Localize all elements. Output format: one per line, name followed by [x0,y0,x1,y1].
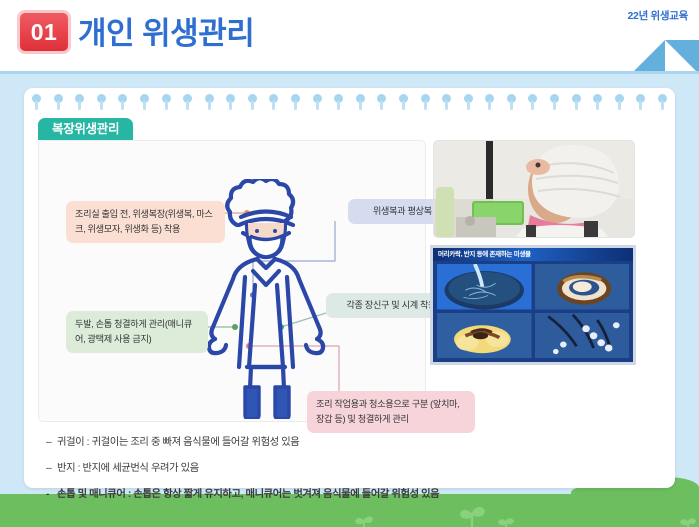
binder-pin [32,94,41,103]
photo-microbe-caption: 머리카락, 반지 등에 존재하는 미생물 [433,248,633,261]
slide-header: 01 개인 위생관리 22년 위생교육 [0,0,699,74]
binder-pin [399,94,408,103]
binder-pin [464,94,473,103]
diagram-panel: 조리실 출입 전, 위생복장(위생복, 마스크, 위생모자, 위생화 등) 착용… [38,140,426,422]
binder-pin [550,94,559,103]
callout-hair-nails: 두발, 손톱 청결하게 관리(매니큐어, 광택제 사용 금지) [66,311,208,353]
bullet-text: 손톱 및 매니큐어 : 손톱은 항상 짧게 유지하고, 매니큐어는 벗겨져 음식… [57,489,439,500]
binder-pin [54,94,63,103]
photo-microbe-grid [437,264,629,358]
microbe-cell-ring [535,264,630,310]
microbe-cell-hairs [535,313,630,359]
binder-pin [118,94,127,103]
binder-pin [291,94,300,103]
header-corner-note: 22년 위생교육 [628,8,689,23]
bullet-dash: - [46,489,57,500]
bullet-text: 반지 : 반지에 세균번식 우려가 있음 [57,463,199,474]
header-triangle-right-decor [665,40,699,74]
callout-apron-gloves: 조리 작업용과 청소용으로 구분 (앞치마, 장갑 등) 및 청결하게 관리 [307,391,475,433]
binder-pin [593,94,602,103]
binder-pin [269,94,278,103]
binder-pin [313,94,322,103]
binder-pin [97,94,106,103]
binder-pin [140,94,149,103]
binder-pin [183,94,192,103]
binder-pin [248,94,257,103]
binder-pin [528,94,537,103]
binder-pin [442,94,451,103]
binder-pin [75,94,84,103]
bullet-text: 귀걸이 : 귀걸이는 조리 중 빠져 음식물에 들어갈 위험성 있음 [57,437,299,448]
binder-pin [615,94,624,103]
photo-microbe-panel: 머리카락, 반지 등에 존재하는 미생물 [430,245,636,365]
binder-pin [356,94,365,103]
bullet-item: -손톱 및 매니큐어 : 손톱은 항상 짧게 유지하고, 매니큐어는 벗겨져 음… [46,485,656,500]
binder-pin [636,94,645,103]
photo-worker-with-cap [433,140,635,238]
microbe-cell-hair-water [437,264,532,310]
section-tab: 복장위생관리 [38,118,133,140]
microbe-cell-colony-yellow [437,313,532,359]
binder-pin [421,94,430,103]
callout-uniform-wear: 조리실 출입 전, 위생복장(위생복, 마스크, 위생모자, 위생화 등) 착용 [66,201,225,243]
binder-pin [658,94,667,103]
photo-worker-illustration [434,141,634,237]
binder-pin [485,94,494,103]
bullet-item: –반지 : 반지에 세균번식 우려가 있음 [46,459,656,474]
binder-pins-decor [32,94,667,114]
binder-pin [572,94,581,103]
header-divider [0,71,699,74]
page-title: 개인 위생관리 [78,8,254,53]
binder-pin [507,94,516,103]
bullet-list: –귀걸이 : 귀걸이는 조리 중 빠져 음식물에 들어갈 위험성 있음–반지 :… [46,433,656,511]
section-number-badge: 01 [20,13,68,51]
bullet-dash: – [46,463,57,474]
binder-pin [334,94,343,103]
header-triangle-left-decor [631,40,665,74]
slide-root: 01 개인 위생관리 22년 위생교육 복장위생관리 [0,0,699,527]
binder-pin [377,94,386,103]
bullet-dash: – [46,437,57,448]
binder-pin [162,94,171,103]
binder-pin [226,94,235,103]
binder-pin [205,94,214,103]
bullet-item: –귀걸이 : 귀걸이는 조리 중 빠져 음식물에 들어갈 위험성 있음 [46,433,656,448]
content-card: 복장위생관리 [24,88,675,488]
